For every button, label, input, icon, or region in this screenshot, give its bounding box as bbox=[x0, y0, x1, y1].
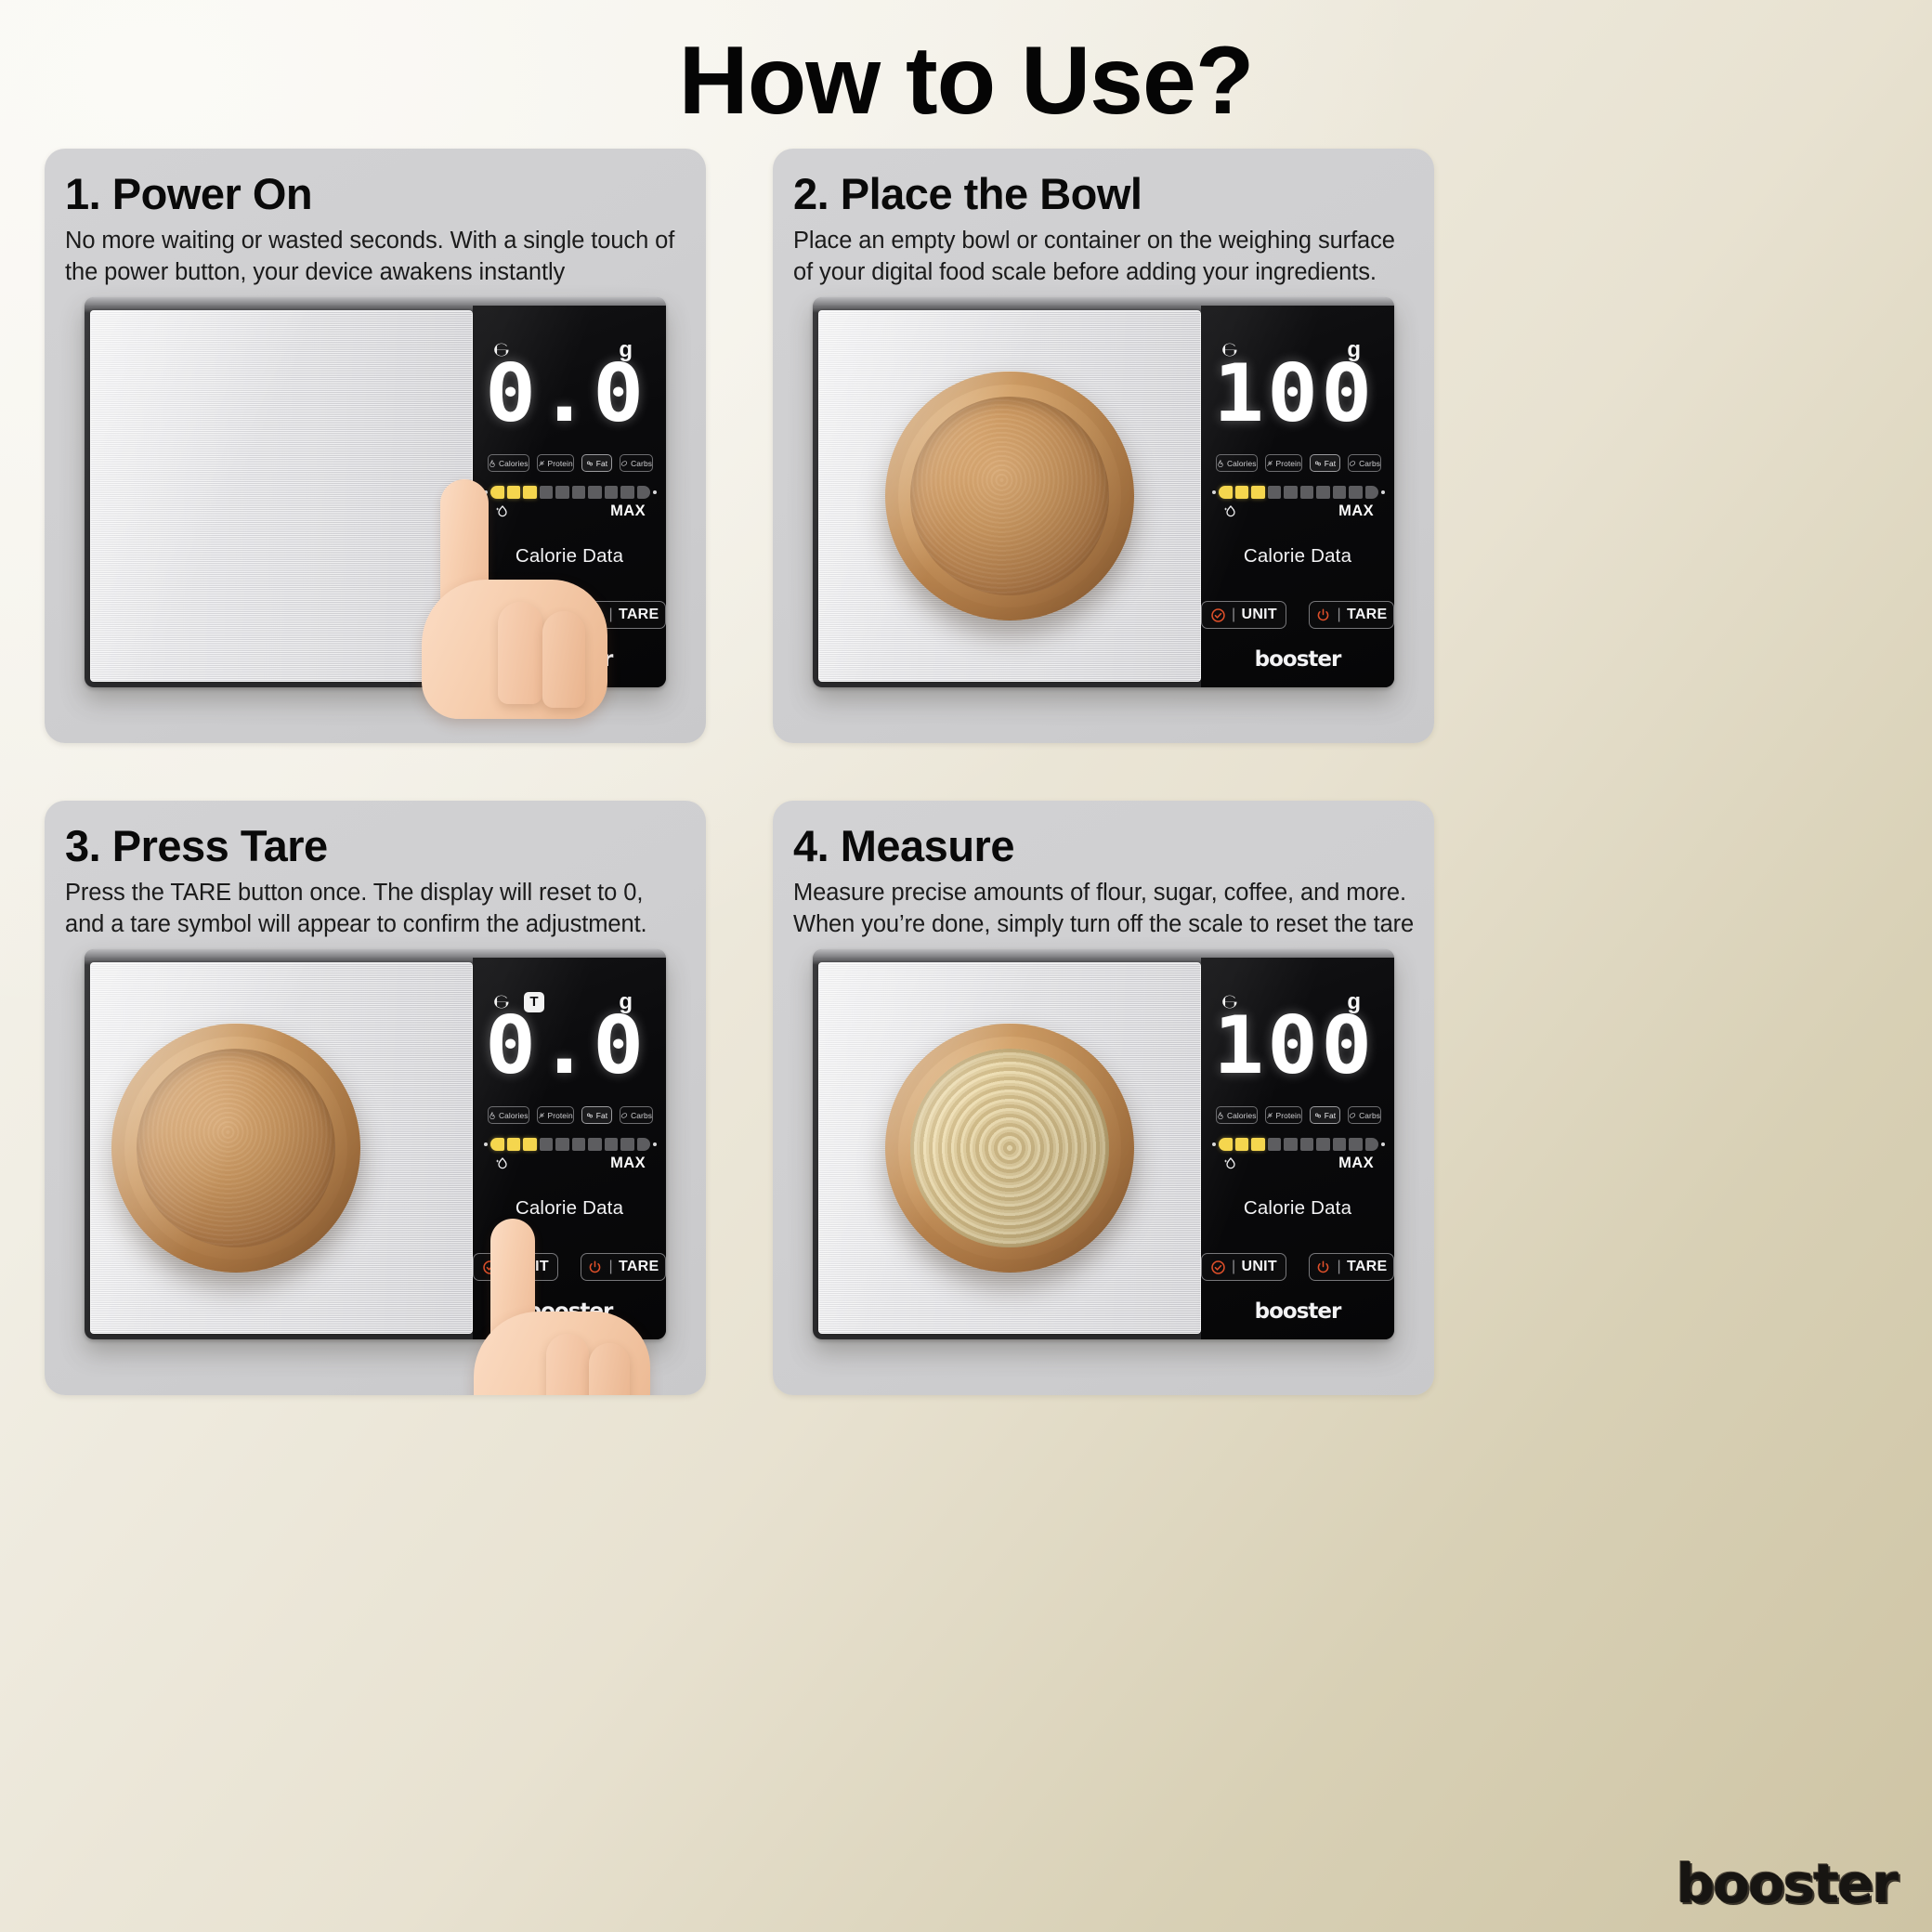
tare-button[interactable]: | TARE bbox=[1309, 1253, 1394, 1281]
calorie-data-label: Calorie Data bbox=[1201, 545, 1394, 568]
protein-icon bbox=[538, 460, 545, 467]
wooden-bowl-with-oats bbox=[885, 1024, 1134, 1273]
tare-button[interactable]: | TARE bbox=[581, 1253, 666, 1281]
level-bar bbox=[484, 1134, 657, 1155]
chip-protein[interactable]: Protein bbox=[537, 454, 574, 472]
nutrition-chip-row: Calories Protein Fat bbox=[488, 1106, 653, 1124]
brand-logo: booster bbox=[473, 1299, 666, 1324]
chip-fat[interactable]: Fat bbox=[1310, 454, 1340, 472]
chip-calories[interactable]: Calories bbox=[1216, 454, 1258, 472]
protein-icon bbox=[538, 1112, 545, 1119]
unit-button[interactable]: | UNIT bbox=[473, 601, 558, 629]
food-scale: ℮ g 100 Calories bbox=[813, 297, 1394, 687]
wooden-bowl bbox=[111, 1024, 360, 1273]
unit-button[interactable]: | UNIT bbox=[1201, 601, 1286, 629]
tare-button-label: TARE bbox=[1347, 607, 1388, 623]
display-panel: ℮ T g 0.0 Calories bbox=[473, 958, 666, 1339]
weight-readout: 100 bbox=[1218, 1006, 1370, 1086]
chip-calories[interactable]: Calories bbox=[488, 1106, 529, 1124]
weight-readout: 0.0 bbox=[490, 1006, 642, 1086]
step-body: No more waiting or wasted seconds. With … bbox=[65, 226, 687, 288]
display-panel: ℮ g 100 Calories bbox=[1201, 958, 1394, 1339]
level-dot-right bbox=[1381, 490, 1385, 494]
nutrition-chip-row: Calories Protein Fat bbox=[1216, 454, 1381, 472]
scale-bevel bbox=[813, 949, 1394, 958]
fat-icon bbox=[586, 1112, 594, 1119]
unit-button-label: UNIT bbox=[513, 1259, 549, 1275]
level-bar bbox=[1212, 1134, 1385, 1155]
check-circle-icon bbox=[1210, 1260, 1226, 1275]
level-dot-left bbox=[484, 1142, 488, 1146]
carbs-icon bbox=[1349, 1112, 1356, 1119]
carbs-icon bbox=[620, 1112, 628, 1119]
unit-button[interactable]: | UNIT bbox=[473, 1253, 558, 1281]
tare-button-label: TARE bbox=[1347, 1259, 1388, 1275]
level-dot-left bbox=[1212, 490, 1216, 494]
max-label: MAX bbox=[1338, 1155, 1374, 1172]
check-circle-icon bbox=[1210, 607, 1226, 623]
level-dot-right bbox=[1381, 1142, 1385, 1146]
power-icon bbox=[587, 1260, 603, 1275]
calorie-data-label: Calorie Data bbox=[1201, 1197, 1394, 1220]
level-dot-right bbox=[653, 1142, 657, 1146]
nutrition-chip-row: Calories Protein Fat bbox=[488, 454, 653, 472]
unit-button[interactable]: | UNIT bbox=[1201, 1253, 1286, 1281]
fat-icon bbox=[1314, 460, 1322, 467]
step-body: Press the TARE button once. The display … bbox=[65, 878, 687, 940]
flame-icon bbox=[1217, 460, 1224, 467]
wooden-bowl bbox=[885, 372, 1134, 620]
chip-carbs[interactable]: Carbs bbox=[620, 1106, 653, 1124]
chip-calories[interactable]: Calories bbox=[488, 454, 529, 472]
flame-icon bbox=[489, 1112, 496, 1119]
scale-illustration-4: ℮ g 100 Calories bbox=[791, 949, 1416, 1349]
power-icon bbox=[587, 607, 603, 623]
level-dot-left bbox=[484, 490, 488, 494]
step-card-4: 4. Measure Measure precise amounts of fl… bbox=[773, 801, 1434, 1395]
brand-logo: booster bbox=[1201, 647, 1394, 672]
food-scale: ℮ T g 0.0 Calories bbox=[85, 949, 666, 1339]
chip-protein[interactable]: Protein bbox=[1265, 454, 1302, 472]
page-title: How to Use? bbox=[0, 24, 1932, 138]
protein-icon bbox=[1266, 460, 1273, 467]
step-heading: 2. Place the Bowl bbox=[793, 171, 1416, 216]
step-heading: 3. Press Tare bbox=[65, 823, 687, 868]
tare-button[interactable]: | TARE bbox=[581, 601, 666, 629]
weight-readout: 0.0 bbox=[490, 354, 642, 434]
water-drop-icon bbox=[1221, 503, 1240, 526]
chip-fat[interactable]: Fat bbox=[581, 1106, 612, 1124]
flame-icon bbox=[489, 460, 496, 467]
weighing-platform[interactable] bbox=[90, 310, 473, 682]
step-card-2: 2. Place the Bowl Place an empty bowl or… bbox=[773, 149, 1434, 743]
food-scale: ℮ g 100 Calories bbox=[813, 949, 1394, 1339]
scale-illustration-2: ℮ g 100 Calories bbox=[791, 297, 1416, 697]
display-panel: ℮ g 100 Calories bbox=[1201, 306, 1394, 687]
step-body: Place an empty bowl or container on the … bbox=[793, 226, 1416, 288]
fat-icon bbox=[586, 460, 594, 467]
calorie-data-label: Calorie Data bbox=[473, 545, 666, 568]
brand-logo: booster bbox=[473, 647, 666, 672]
max-label: MAX bbox=[610, 503, 646, 520]
brand-logo: booster bbox=[1201, 1299, 1394, 1324]
display-panel: ℮ g 0.0 Calories bbox=[473, 306, 666, 687]
tare-button-label: TARE bbox=[619, 1259, 659, 1275]
level-bar bbox=[1212, 482, 1385, 503]
fat-icon bbox=[1314, 1112, 1322, 1119]
level-dot-left bbox=[1212, 1142, 1216, 1146]
chip-calories[interactable]: Calories bbox=[1216, 1106, 1258, 1124]
scale-bevel bbox=[85, 949, 666, 958]
level-dot-right bbox=[653, 490, 657, 494]
display-button-row: | UNIT | TARE bbox=[1201, 1253, 1394, 1281]
carbs-icon bbox=[620, 460, 628, 467]
tare-button-label: TARE bbox=[619, 607, 659, 623]
display-button-row: | UNIT | TARE bbox=[473, 601, 666, 629]
display-button-row: | UNIT | TARE bbox=[473, 1253, 666, 1281]
unit-button-label: UNIT bbox=[1241, 607, 1277, 623]
step-card-3: 3. Press Tare Press the TARE button once… bbox=[45, 801, 706, 1395]
scale-illustration-3: ℮ T g 0.0 Calories bbox=[63, 949, 687, 1349]
calorie-data-label: Calorie Data bbox=[473, 1197, 666, 1220]
water-drop-icon bbox=[1221, 1155, 1240, 1178]
step-heading: 4. Measure bbox=[793, 823, 1416, 868]
carbs-icon bbox=[1349, 460, 1356, 467]
check-circle-icon bbox=[482, 607, 498, 623]
scale-bevel bbox=[813, 297, 1394, 306]
steps-grid: 1. Power On No more waiting or wasted se… bbox=[45, 149, 1887, 1395]
level-bar bbox=[484, 482, 657, 503]
chip-fat[interactable]: Fat bbox=[1310, 1106, 1340, 1124]
chip-protein[interactable]: Protein bbox=[537, 1106, 574, 1124]
chip-carbs[interactable]: Carbs bbox=[1348, 454, 1381, 472]
weight-readout: 100 bbox=[1218, 354, 1370, 434]
scale-bevel bbox=[85, 297, 666, 306]
protein-icon bbox=[1266, 1112, 1273, 1119]
weighing-platform[interactable] bbox=[818, 310, 1201, 682]
chip-carbs[interactable]: Carbs bbox=[620, 454, 653, 472]
scale-illustration-1: ℮ g 0.0 Calories bbox=[63, 297, 687, 697]
display-button-row: | UNIT | TARE bbox=[1201, 601, 1394, 629]
company-logo: booster bbox=[1677, 1852, 1897, 1915]
max-label: MAX bbox=[610, 1155, 646, 1172]
water-drop-icon bbox=[493, 1155, 512, 1178]
flame-icon bbox=[1217, 1112, 1224, 1119]
tare-button[interactable]: | TARE bbox=[1309, 601, 1394, 629]
weighing-platform[interactable] bbox=[90, 962, 473, 1334]
chip-fat[interactable]: Fat bbox=[581, 454, 612, 472]
power-icon bbox=[1315, 1260, 1331, 1275]
weighing-platform[interactable] bbox=[818, 962, 1201, 1334]
step-heading: 1. Power On bbox=[65, 171, 687, 216]
unit-button-label: UNIT bbox=[513, 607, 549, 623]
chip-carbs[interactable]: Carbs bbox=[1348, 1106, 1381, 1124]
water-drop-icon bbox=[493, 503, 512, 526]
check-circle-icon bbox=[482, 1260, 498, 1275]
power-icon bbox=[1315, 607, 1331, 623]
step-body: Measure precise amounts of flour, sugar,… bbox=[793, 878, 1416, 940]
nutrition-chip-row: Calories Protein Fat bbox=[1216, 1106, 1381, 1124]
unit-button-label: UNIT bbox=[1241, 1259, 1277, 1275]
max-label: MAX bbox=[1338, 503, 1374, 520]
food-scale: ℮ g 0.0 Calories bbox=[85, 297, 666, 687]
chip-protein[interactable]: Protein bbox=[1265, 1106, 1302, 1124]
step-card-1: 1. Power On No more waiting or wasted se… bbox=[45, 149, 706, 743]
